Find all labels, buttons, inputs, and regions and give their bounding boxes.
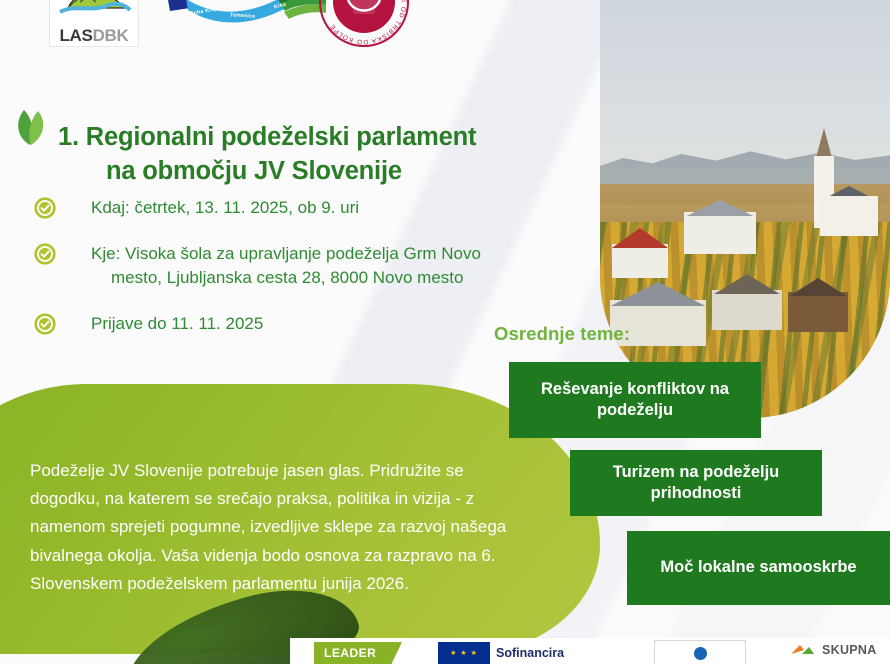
check-circle-icon xyxy=(34,313,56,335)
logo-heritage-seal[interactable]: Z DEDIŠČINE OD TRBIŠKA DO KOLPE xyxy=(318,0,410,48)
themes-title: Osrednje teme: xyxy=(494,323,630,345)
info-row-when: Kdaj: četrtek, 13. 11. 2025, ob 9. uri xyxy=(34,196,594,220)
info-row-where: Kje: Visoka šola za upravljanje podeželj… xyxy=(34,242,594,290)
info-when-line-1: Kdaj: četrtek, 13. 11. 2025, ob 9. uri xyxy=(91,198,359,217)
village-house xyxy=(684,212,756,254)
info-where-line-2: mesto, Ljubljanska cesta 28, 8000 Novo m… xyxy=(111,266,481,290)
ministry-emblem-icon xyxy=(694,647,707,660)
wooden-barn xyxy=(788,292,848,332)
stik-label-temenica: Temenica xyxy=(230,12,255,19)
theme-box-local-self-sufficiency[interactable]: Moč lokalne samooskrbe xyxy=(627,531,890,605)
church-spire-icon xyxy=(816,128,832,158)
leaf-icon xyxy=(14,107,48,147)
theme-box-conflict-resolution[interactable]: Reševanje konfliktov na podeželju xyxy=(509,362,761,438)
info-text-deadline: Prijave do 11. 11. 2025 xyxy=(91,312,263,336)
eu-cofinanced-label: Sofinancira xyxy=(496,646,564,660)
logo-leader[interactable]: LEADER xyxy=(314,642,402,664)
las-dbk-wordmark: LASDBK xyxy=(50,27,138,44)
headline-line-2: na območju JV Slovenije xyxy=(106,154,476,188)
info-where-line-1: Kje: Visoka šola za upravljanje podeželj… xyxy=(91,244,481,263)
body-paragraph: Podeželje JV Slovenije potrebuje jasen g… xyxy=(30,457,530,598)
check-circle-icon xyxy=(34,243,56,265)
skupna-label: SKUPNA xyxy=(822,643,877,657)
vineyard-village-photo xyxy=(600,0,890,418)
logo-las-dbk[interactable]: LASDBK xyxy=(50,0,138,46)
las-prefix: LAS xyxy=(59,26,92,45)
partner-logos: LASDBK STIK Suha Krajina Temenica Krka xyxy=(0,0,560,52)
info-deadline-line-1: Prijave do 11. 11. 2025 xyxy=(91,314,263,333)
page-title: 1. Regionalni podeželski parlament na ob… xyxy=(58,120,476,188)
church-body xyxy=(820,196,878,236)
theme-box-rural-tourism[interactable]: Turizem na podeželju prihodnosti xyxy=(570,450,822,516)
logo-ministry-box[interactable] xyxy=(654,640,746,664)
logo-eu-cofinanced[interactable]: ★ ★ ★ Sofinancira xyxy=(438,642,564,664)
logo-skupna[interactable]: SKUPNA xyxy=(790,642,877,658)
headline-line-1: 1. Regionalni podeželski parlament xyxy=(58,123,476,151)
poster-root: LASDBK STIK Suha Krajina Temenica Krka xyxy=(0,0,890,664)
heritage-seal-icon: Z DEDIŠČINE OD TRBIŠKA DO KOLPE xyxy=(318,0,410,48)
footer-logos-bar: LEADER ★ ★ ★ Sofinancira SKUPNA xyxy=(290,638,890,664)
info-text-when: Kdaj: četrtek, 13. 11. 2025, ob 9. uri xyxy=(91,196,359,220)
headline-block: 1. Regionalni podeželski parlament na ob… xyxy=(14,103,574,205)
eu-stars: ★ ★ ★ xyxy=(438,642,490,664)
skupna-mark-icon xyxy=(790,642,816,658)
eu-flag-icon: ★ ★ ★ xyxy=(438,642,490,664)
barn xyxy=(712,290,782,330)
village-house xyxy=(612,244,668,278)
las-suffix: DBK xyxy=(93,26,129,45)
las-dbk-emblem-icon xyxy=(50,0,138,22)
check-circle-icon xyxy=(34,197,56,219)
info-text-where: Kje: Visoka šola za upravljanje podeželj… xyxy=(91,242,481,290)
logo-stik[interactable]: STIK Suha Krajina Temenica Krka xyxy=(168,0,328,30)
